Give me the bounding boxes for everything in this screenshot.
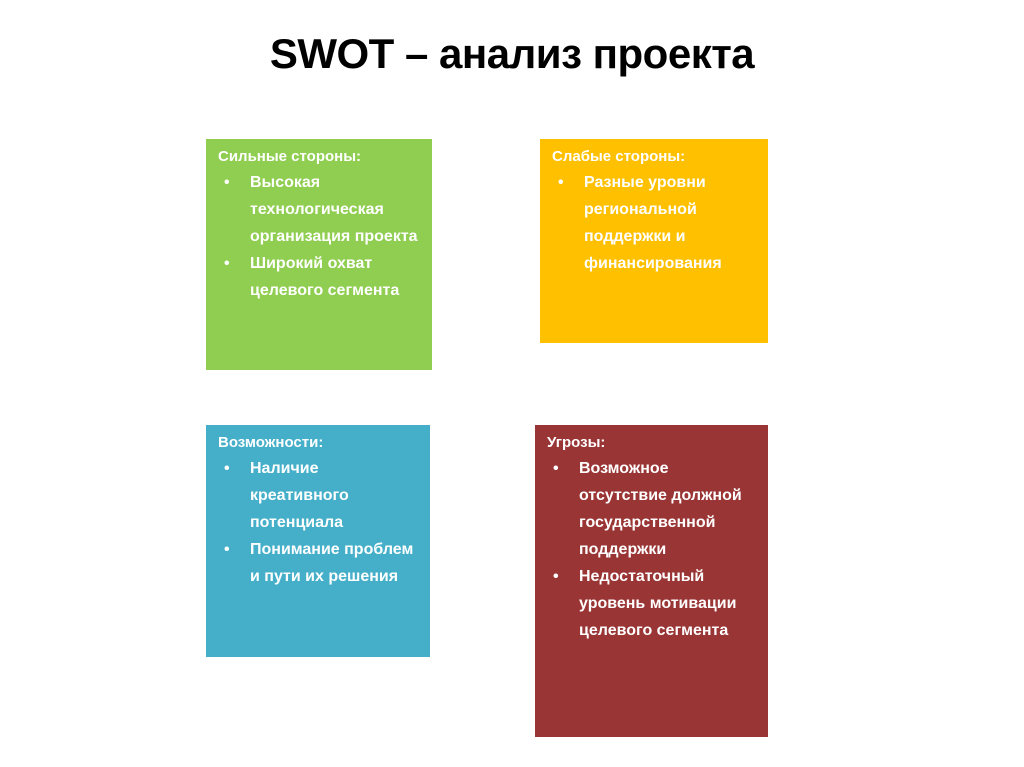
list-item: • Недостаточный уровень мотивации целево… (547, 563, 758, 644)
bullet-dot-icon: • (558, 169, 564, 196)
swot-quadrant-opportunities[interactable]: Возможности: • Наличие креативного потен… (206, 425, 430, 657)
list-item-text: Высокая технологическая организация прое… (250, 174, 418, 245)
bullet-dot-icon: • (224, 169, 230, 196)
list-item-text: Понимание проблем и пути их решения (250, 541, 413, 585)
quadrant-header-weaknesses: Слабые стороны: (552, 147, 758, 167)
bullet-dot-icon: • (553, 455, 559, 482)
bullet-dot-icon: • (224, 455, 230, 482)
list-item: • Наличие креативного потенциала (218, 455, 420, 536)
list-item-text: Возможное отсутствие должной государстве… (579, 460, 742, 558)
list-item: • Широкий охват целевого сегмента (218, 250, 422, 304)
list-item-text: Широкий охват целевого сегмента (250, 255, 399, 299)
list-item: • Возможное отсутствие должной государст… (547, 455, 758, 563)
list-item: • Высокая технологическая организация пр… (218, 169, 422, 250)
bullet-dot-icon: • (224, 250, 230, 277)
swot-slide: SWOT – анализ проекта Сильные стороны: •… (0, 0, 1024, 767)
bullet-dot-icon: • (553, 563, 559, 590)
swot-quadrant-threats[interactable]: Угрозы: • Возможное отсутствие должной г… (535, 425, 768, 737)
list-item: • Понимание проблем и пути их решения (218, 536, 420, 590)
quadrant-header-strengths: Сильные стороны: (218, 147, 422, 167)
list-item: • Разные уровни региональной поддержки и… (552, 169, 758, 277)
bullet-list-strengths: • Высокая технологическая организация пр… (216, 169, 422, 304)
page-title: SWOT – анализ проекта (0, 30, 1024, 78)
swot-quadrant-weaknesses[interactable]: Слабые стороны: • Разные уровни регионал… (540, 139, 768, 343)
bullet-list-weaknesses: • Разные уровни региональной поддержки и… (550, 169, 758, 277)
list-item-text: Наличие креативного потенциала (250, 460, 349, 531)
swot-quadrant-strengths[interactable]: Сильные стороны: • Высокая технологическ… (206, 139, 432, 370)
quadrant-header-threats: Угрозы: (547, 433, 758, 453)
bullet-dot-icon: • (224, 536, 230, 563)
bullet-list-opportunities: • Наличие креативного потенциала • Поним… (216, 455, 420, 590)
list-item-text: Разные уровни региональной поддержки и ф… (584, 174, 722, 272)
bullet-list-threats: • Возможное отсутствие должной государст… (545, 455, 758, 644)
list-item-text: Недостаточный уровень мотивации целевого… (579, 568, 736, 639)
quadrant-header-opportunities: Возможности: (218, 433, 420, 453)
